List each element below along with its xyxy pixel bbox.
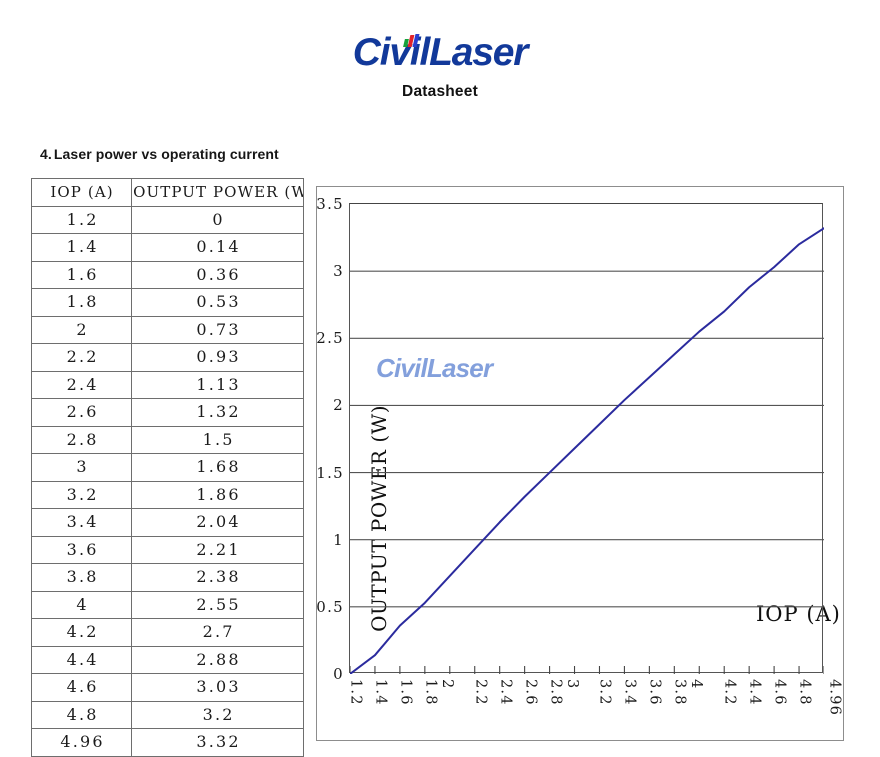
table-row: 3.82.38 [32, 564, 304, 592]
cell-iop: 2.8 [32, 426, 132, 454]
y-tick-label: 3 [333, 262, 344, 280]
cell-iop: 4 [32, 591, 132, 619]
cell-iop: 2 [32, 316, 132, 344]
cell-iop: 4.4 [32, 646, 132, 674]
cell-iop: 2.4 [32, 371, 132, 399]
x-tick-label: 2.4 [497, 679, 513, 706]
x-tick-label: 4.4 [746, 679, 762, 706]
cell-iop: 1.2 [32, 206, 132, 234]
x-tick-label: 1.6 [397, 679, 413, 706]
cell-output-power: 2.88 [132, 646, 304, 674]
cell-output-power: 3.2 [132, 701, 304, 729]
x-tick-label: 4.8 [796, 679, 812, 706]
cell-output-power: 1.86 [132, 481, 304, 509]
x-tick-label: 3.4 [622, 679, 638, 706]
cell-iop: 2.2 [32, 344, 132, 372]
cell-output-power: 1.13 [132, 371, 304, 399]
cell-output-power: 0.93 [132, 344, 304, 372]
section-heading: 4.Laser power vs operating current [40, 146, 279, 162]
y-tick-label: 0 [333, 665, 344, 683]
cell-output-power: 0 [132, 206, 304, 234]
table-row: 1.20 [32, 206, 304, 234]
laser-power-chart: OUTPUT POWER (W) IOP (A) CivilLaser 00.5… [316, 186, 844, 741]
x-tick-label: 4.2 [722, 679, 738, 706]
cell-output-power: 1.5 [132, 426, 304, 454]
x-tick-label: 1.2 [347, 679, 363, 706]
table-row: 2.41.13 [32, 371, 304, 399]
cell-iop: 3.2 [32, 481, 132, 509]
table-row: 31.68 [32, 454, 304, 482]
column-header-iop: IOP (A) [32, 179, 132, 207]
table-row: 4.63.03 [32, 674, 304, 702]
x-tick-label: 1.8 [422, 679, 438, 706]
logo-text: CivilLaser [353, 31, 527, 74]
table-row: 3.62.21 [32, 536, 304, 564]
cell-iop: 3.4 [32, 509, 132, 537]
table-header-row: IOP (A) OUTPUT POWER (W) [32, 179, 304, 207]
cell-iop: 1.8 [32, 289, 132, 317]
x-tick-label: 3.2 [597, 679, 613, 706]
cell-iop: 3.6 [32, 536, 132, 564]
x-tick-label: 4.96 [827, 679, 843, 716]
table-row: 4.22.7 [32, 619, 304, 647]
cell-output-power: 0.14 [132, 234, 304, 262]
x-tick-label: 3.8 [672, 679, 688, 706]
y-tick-label: 1.5 [316, 464, 344, 482]
cell-output-power: 0.53 [132, 289, 304, 317]
table-row: 2.20.93 [32, 344, 304, 372]
y-tick-label: 2.5 [316, 329, 344, 347]
table-row: 2.61.32 [32, 399, 304, 427]
power-current-table: IOP (A) OUTPUT POWER (W) 1.201.40.141.60… [31, 178, 304, 757]
cell-output-power: 0.73 [132, 316, 304, 344]
section-title-text: Laser power vs operating current [54, 146, 279, 162]
x-tick-label: 2 [439, 679, 455, 689]
datasheet-subtitle: Datasheet [0, 83, 880, 101]
cell-output-power: 2.7 [132, 619, 304, 647]
cell-iop: 4.6 [32, 674, 132, 702]
section-number: 4. [40, 146, 52, 162]
table-row: 3.42.04 [32, 509, 304, 537]
table-row: 1.40.14 [32, 234, 304, 262]
cell-iop: 2.6 [32, 399, 132, 427]
cell-iop: 1.4 [32, 234, 132, 262]
table-row: 1.60.36 [32, 261, 304, 289]
x-tick-label: 2.2 [472, 679, 488, 706]
cell-output-power: 1.32 [132, 399, 304, 427]
cell-output-power: 2.38 [132, 564, 304, 592]
y-tick-label: 3.5 [316, 195, 344, 213]
cell-iop: 4.2 [32, 619, 132, 647]
table-row: 20.73 [32, 316, 304, 344]
y-tick-label: 1 [333, 531, 344, 549]
x-tick-label: 4.6 [771, 679, 787, 706]
x-tick-label: 4 [688, 679, 704, 689]
cell-iop: 3 [32, 454, 132, 482]
table-row: 4.83.2 [32, 701, 304, 729]
cell-output-power: 1.68 [132, 454, 304, 482]
cell-iop: 1.6 [32, 261, 132, 289]
cell-output-power: 2.21 [132, 536, 304, 564]
cell-iop: 4.8 [32, 701, 132, 729]
plot-area: 00.511.522.533.51.21.41.61.822.22.42.62.… [349, 203, 823, 673]
table-row: 3.21.86 [32, 481, 304, 509]
civillaser-logo: CivilLaser [353, 33, 527, 72]
table-row: 4.42.88 [32, 646, 304, 674]
cell-output-power: 0.36 [132, 261, 304, 289]
cell-output-power: 2.55 [132, 591, 304, 619]
cell-output-power: 3.03 [132, 674, 304, 702]
plot-svg [350, 204, 824, 674]
table-row: 42.55 [32, 591, 304, 619]
page-header: CivilLaser Datasheet [0, 0, 880, 101]
column-header-output-power: OUTPUT POWER (W) [132, 179, 304, 207]
x-tick-label: 2.8 [547, 679, 563, 706]
x-tick-label: 1.4 [372, 679, 388, 706]
x-tick-label: 2.6 [522, 679, 538, 706]
cell-output-power: 2.04 [132, 509, 304, 537]
table-row: 2.81.5 [32, 426, 304, 454]
x-tick-label: 3 [564, 679, 580, 689]
y-tick-label: 0.5 [316, 598, 344, 616]
x-tick-label: 3.6 [647, 679, 663, 706]
cell-iop: 3.8 [32, 564, 132, 592]
y-tick-label: 2 [333, 396, 344, 414]
table-row: 1.80.53 [32, 289, 304, 317]
